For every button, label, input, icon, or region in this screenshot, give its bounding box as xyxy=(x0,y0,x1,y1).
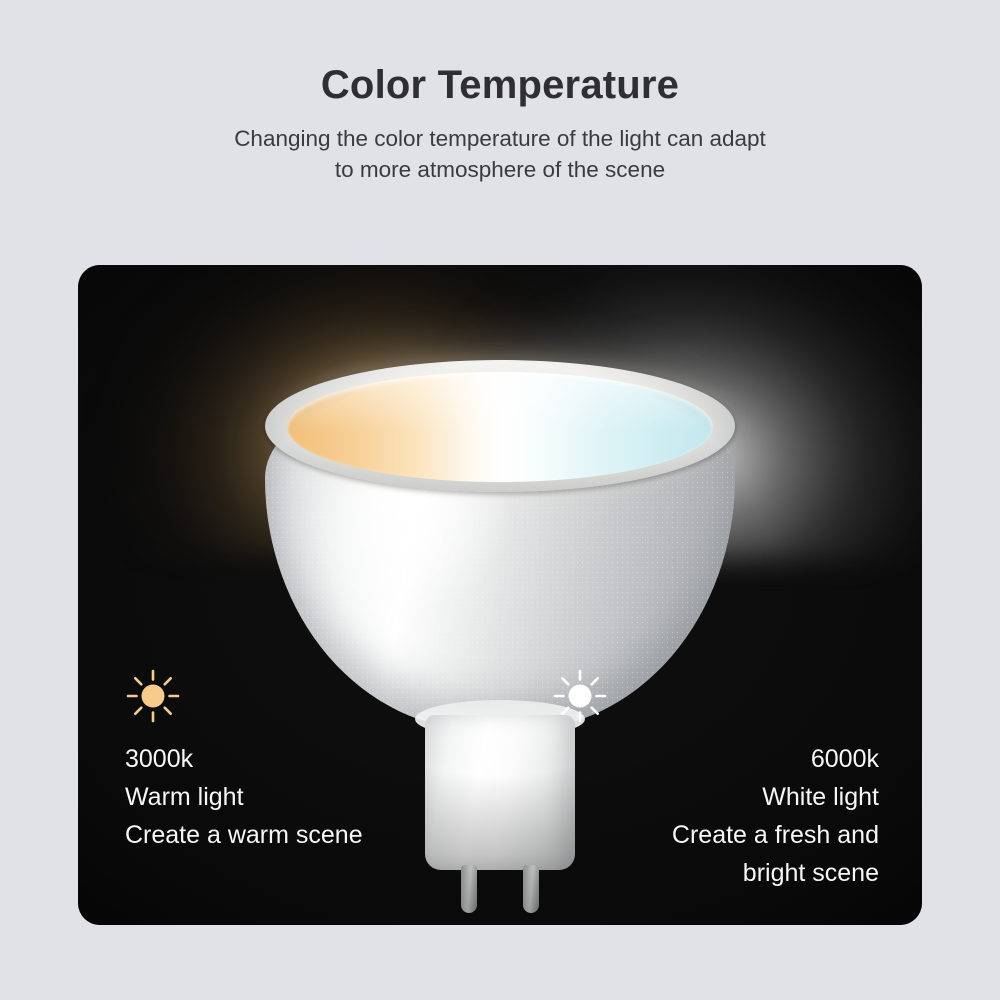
subtitle-line-2: to more atmosphere of the scene xyxy=(150,155,850,186)
bulb-pin-right xyxy=(523,865,539,913)
caption-line: 6000k xyxy=(552,740,879,778)
page-subtitle: Changing the color temperature of the li… xyxy=(150,108,850,185)
bulb-lens-sheen xyxy=(287,372,713,482)
product-showcase-panel: 3000k Warm light Create a warm scene 60 xyxy=(78,265,922,925)
sun-icon xyxy=(125,668,363,724)
caption-white-light: 6000k White light Create a fresh and bri… xyxy=(552,668,879,892)
caption-line: Create a warm scene xyxy=(125,816,363,854)
page-title: Color Temperature xyxy=(0,0,1000,108)
caption-line: Warm light xyxy=(125,778,363,816)
header: Color Temperature Changing the color tem… xyxy=(0,0,1000,185)
subtitle-line-1: Changing the color temperature of the li… xyxy=(150,124,850,155)
caption-line: White light xyxy=(552,778,879,816)
bulb-pin-left xyxy=(461,865,477,913)
caption-line: Create a fresh and xyxy=(552,816,879,854)
caption-line: bright scene xyxy=(552,854,879,892)
caption-line: 3000k xyxy=(125,740,363,778)
sun-icon xyxy=(552,668,879,724)
caption-warm-light: 3000k Warm light Create a warm scene xyxy=(125,668,363,854)
